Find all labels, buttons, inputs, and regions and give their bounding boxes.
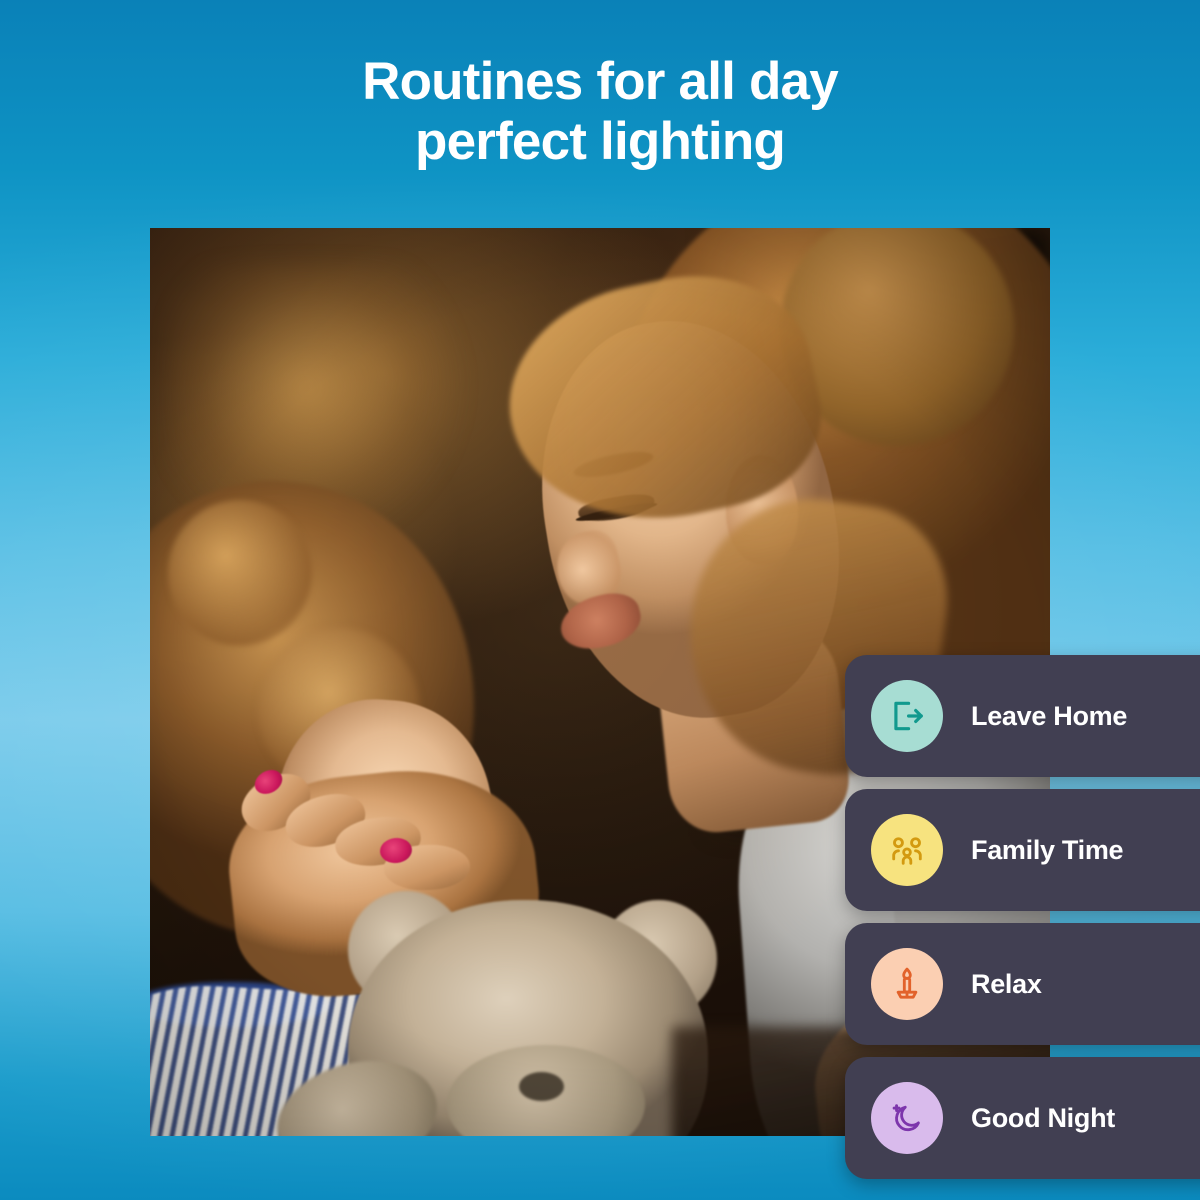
- poster-canvas: Routines for all day perfect lighting: [0, 0, 1200, 1200]
- routines-list: Leave Home Family Time: [845, 655, 1200, 1191]
- routine-card-good-night[interactable]: Good Night: [845, 1057, 1200, 1179]
- routine-label: Leave Home: [971, 701, 1127, 732]
- headline-line-2: perfect lighting: [0, 112, 1200, 172]
- routine-label: Family Time: [971, 835, 1123, 866]
- routine-card-relax[interactable]: Relax: [845, 923, 1200, 1045]
- page-title: Routines for all day perfect lighting: [0, 52, 1200, 173]
- routine-label: Good Night: [971, 1103, 1115, 1134]
- child-curl-1: [168, 500, 312, 645]
- family-people-icon: [871, 814, 943, 886]
- exit-door-icon: [871, 680, 943, 752]
- routine-label: Relax: [971, 969, 1042, 1000]
- crescent-moon-star-icon: [871, 1082, 943, 1154]
- routine-card-family-time[interactable]: Family Time: [845, 789, 1200, 911]
- routine-card-leave-home[interactable]: Leave Home: [845, 655, 1200, 777]
- candle-icon: [871, 948, 943, 1020]
- headline-line-1: Routines for all day: [362, 52, 838, 111]
